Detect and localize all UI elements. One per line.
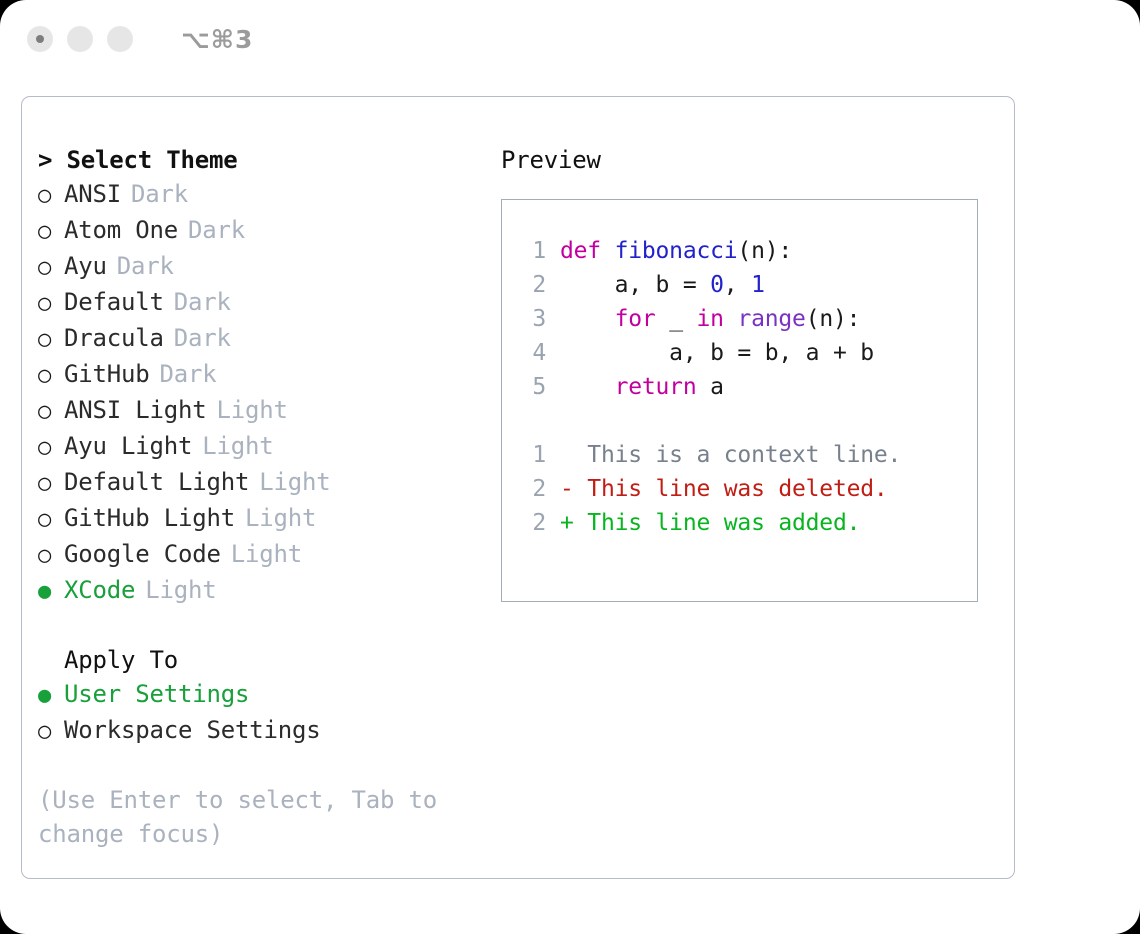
theme-option-tag: Dark: [174, 321, 231, 355]
main-panel: > Select Theme ○ANSIDark○Atom OneDark○Ay…: [21, 96, 1015, 879]
diff-line-number: 1: [516, 438, 546, 472]
theme-option-label: Default Light: [64, 465, 249, 499]
code-token-plain: a, b =: [560, 272, 710, 298]
diff-line-text: This line was added.: [587, 506, 860, 540]
diff-line-text: This line was deleted.: [587, 472, 887, 506]
preview-column: Preview 1def fibonacci(n):2 a, b = 0, 13…: [501, 143, 991, 602]
code-token-plain: _: [656, 306, 697, 332]
code-line-text: def fibonacci(n):: [560, 234, 792, 268]
theme-option-ayu-light[interactable]: ○Ayu LightLight: [38, 429, 478, 465]
radio-unselected-icon[interactable]: ○: [38, 431, 64, 465]
code-token-plain: ,: [724, 272, 751, 298]
radio-unselected-icon[interactable]: ○: [38, 359, 64, 393]
theme-option-tag: Light: [231, 537, 302, 571]
preview-spacer: [502, 404, 977, 438]
radio-unselected-icon[interactable]: ○: [38, 715, 64, 749]
theme-option-label: Default: [64, 285, 164, 319]
radio-unselected-icon[interactable]: ○: [38, 467, 64, 501]
theme-option-label: Ayu Light: [64, 429, 192, 463]
preview-title: Preview: [501, 143, 991, 177]
theme-option-github-light[interactable]: ○GitHub LightLight: [38, 501, 478, 537]
diff-line: 2- This line was deleted.: [502, 472, 977, 506]
code-line-text: for _ in range(n):: [560, 302, 860, 336]
theme-option-label: ANSI: [64, 177, 121, 211]
window-dot-third-icon[interactable]: [107, 26, 133, 52]
theme-option-dracula[interactable]: ○DraculaDark: [38, 321, 478, 357]
theme-option-label: Dracula: [64, 321, 164, 355]
code-line-number: 1: [516, 234, 546, 268]
diff-sample: 1 This is a context line.2- This line wa…: [502, 438, 977, 540]
code-token-plain: (n):: [806, 306, 861, 332]
keyboard-shortcut-label: ⌥⌘3: [181, 27, 253, 52]
code-line: 1def fibonacci(n):: [502, 234, 977, 268]
radio-unselected-icon[interactable]: ○: [38, 179, 64, 213]
radio-unselected-icon[interactable]: ○: [38, 395, 64, 429]
theme-option-tag: Light: [202, 429, 273, 463]
theme-option-tag: Dark: [117, 249, 174, 283]
code-line-text: return a: [560, 370, 724, 404]
code-token-builtin: range: [737, 306, 805, 332]
code-line-number: 5: [516, 370, 546, 404]
code-line: 4 a, b = b, a + b: [502, 336, 977, 370]
theme-option-atom-one[interactable]: ○Atom OneDark: [38, 213, 478, 249]
radio-unselected-icon[interactable]: ○: [38, 323, 64, 357]
theme-option-ansi[interactable]: ○ANSIDark: [38, 177, 478, 213]
theme-option-tag: Light: [259, 465, 330, 499]
radio-unselected-icon[interactable]: ○: [38, 539, 64, 573]
theme-option-ansi-light[interactable]: ○ANSI LightLight: [38, 393, 478, 429]
theme-option-label: Google Code: [64, 537, 221, 571]
radio-selected-icon[interactable]: ●: [38, 679, 64, 713]
code-token-plain: a: [696, 374, 723, 400]
code-line-text: a, b = b, a + b: [560, 336, 874, 370]
theme-option-label: Atom One: [64, 213, 178, 247]
window-dot-active-inner: [36, 35, 44, 43]
apply-to-option-workspace-settings[interactable]: ○Workspace Settings: [38, 713, 478, 749]
window-titlebar: ⌥⌘3: [0, 0, 1140, 78]
diff-marker: -: [560, 472, 587, 506]
diff-line-text: This is a context line.: [587, 438, 901, 472]
theme-option-tag: Dark: [131, 177, 188, 211]
select-theme-header: > Select Theme: [38, 143, 478, 177]
code-line-text: a, b = 0, 1: [560, 268, 765, 302]
diff-marker: +: [560, 506, 587, 540]
apply-to-option-user-settings[interactable]: ●User Settings: [38, 677, 478, 713]
code-line-number: 3: [516, 302, 546, 336]
window-dot-active-icon[interactable]: [27, 26, 53, 52]
code-token-kw: in: [697, 306, 724, 332]
theme-option-ayu[interactable]: ○AyuDark: [38, 249, 478, 285]
theme-option-label: GitHub: [64, 357, 150, 391]
apply-to-option-label: User Settings: [64, 677, 249, 711]
app-window: ⌥⌘3 > Select Theme ○ANSIDark○Atom OneDar…: [0, 0, 1140, 934]
theme-option-default[interactable]: ○DefaultDark: [38, 285, 478, 321]
theme-option-tag: Light: [245, 501, 316, 535]
code-token-num: 1: [751, 272, 765, 298]
keyboard-hint-text: (Use Enter to select, Tab to change focu…: [38, 783, 438, 851]
apply-to-option-label: Workspace Settings: [64, 713, 321, 747]
theme-option-label: XCode: [64, 573, 135, 607]
preview-box: 1def fibonacci(n):2 a, b = 0, 13 for _ i…: [501, 199, 978, 602]
diff-line-number: 2: [516, 506, 546, 540]
theme-option-list[interactable]: ○ANSIDark○Atom OneDark○AyuDark○DefaultDa…: [38, 177, 478, 609]
code-token-plain: a, b = b, a + b: [560, 340, 874, 366]
code-line: 2 a, b = 0, 1: [502, 268, 977, 302]
diff-line: 1 This is a context line.: [502, 438, 977, 472]
window-dot-second-icon[interactable]: [67, 26, 93, 52]
code-line-number: 2: [516, 268, 546, 302]
theme-option-tag: Dark: [174, 285, 231, 319]
code-token-plain: [560, 306, 615, 332]
diff-marker: [560, 438, 587, 472]
radio-selected-icon[interactable]: ●: [38, 575, 64, 609]
apply-to-section: Apply To ●User Settings○Workspace Settin…: [38, 643, 478, 749]
theme-option-xcode[interactable]: ●XCodeLight: [38, 573, 478, 609]
theme-option-tag: Light: [145, 573, 216, 607]
theme-picker-column: > Select Theme ○ANSIDark○Atom OneDark○Ay…: [38, 143, 478, 851]
code-token-num: 0: [710, 272, 724, 298]
theme-option-label: Ayu: [64, 249, 107, 283]
code-line: 3 for _ in range(n):: [502, 302, 977, 336]
theme-option-label: ANSI Light: [64, 393, 207, 427]
apply-to-option-list[interactable]: ●User Settings○Workspace Settings: [38, 677, 478, 749]
code-token-kw: def: [560, 238, 615, 264]
code-line: 5 return a: [502, 370, 977, 404]
theme-option-google-code[interactable]: ○Google CodeLight: [38, 537, 478, 573]
radio-unselected-icon[interactable]: ○: [38, 215, 64, 249]
theme-option-tag: Dark: [188, 213, 245, 247]
code-line-number: 4: [516, 336, 546, 370]
radio-unselected-icon[interactable]: ○: [38, 251, 64, 285]
code-token-plain: [724, 306, 738, 332]
code-token-kw: return: [615, 374, 697, 400]
diff-line-number: 2: [516, 472, 546, 506]
diff-line: 2+ This line was added.: [502, 506, 977, 540]
theme-option-default-light[interactable]: ○Default LightLight: [38, 465, 478, 501]
radio-unselected-icon[interactable]: ○: [38, 287, 64, 321]
apply-to-header: Apply To: [38, 643, 478, 677]
theme-option-github[interactable]: ○GitHubDark: [38, 357, 478, 393]
theme-option-tag: Dark: [160, 357, 217, 391]
theme-option-tag: Light: [217, 393, 288, 427]
code-token-plain: (n):: [737, 238, 792, 264]
code-token-plain: [560, 374, 615, 400]
code-token-kw: for: [615, 306, 656, 332]
theme-option-label: GitHub Light: [64, 501, 235, 535]
code-token-fn: fibonacci: [615, 238, 738, 264]
radio-unselected-icon[interactable]: ○: [38, 503, 64, 537]
code-sample: 1def fibonacci(n):2 a, b = 0, 13 for _ i…: [502, 234, 977, 404]
